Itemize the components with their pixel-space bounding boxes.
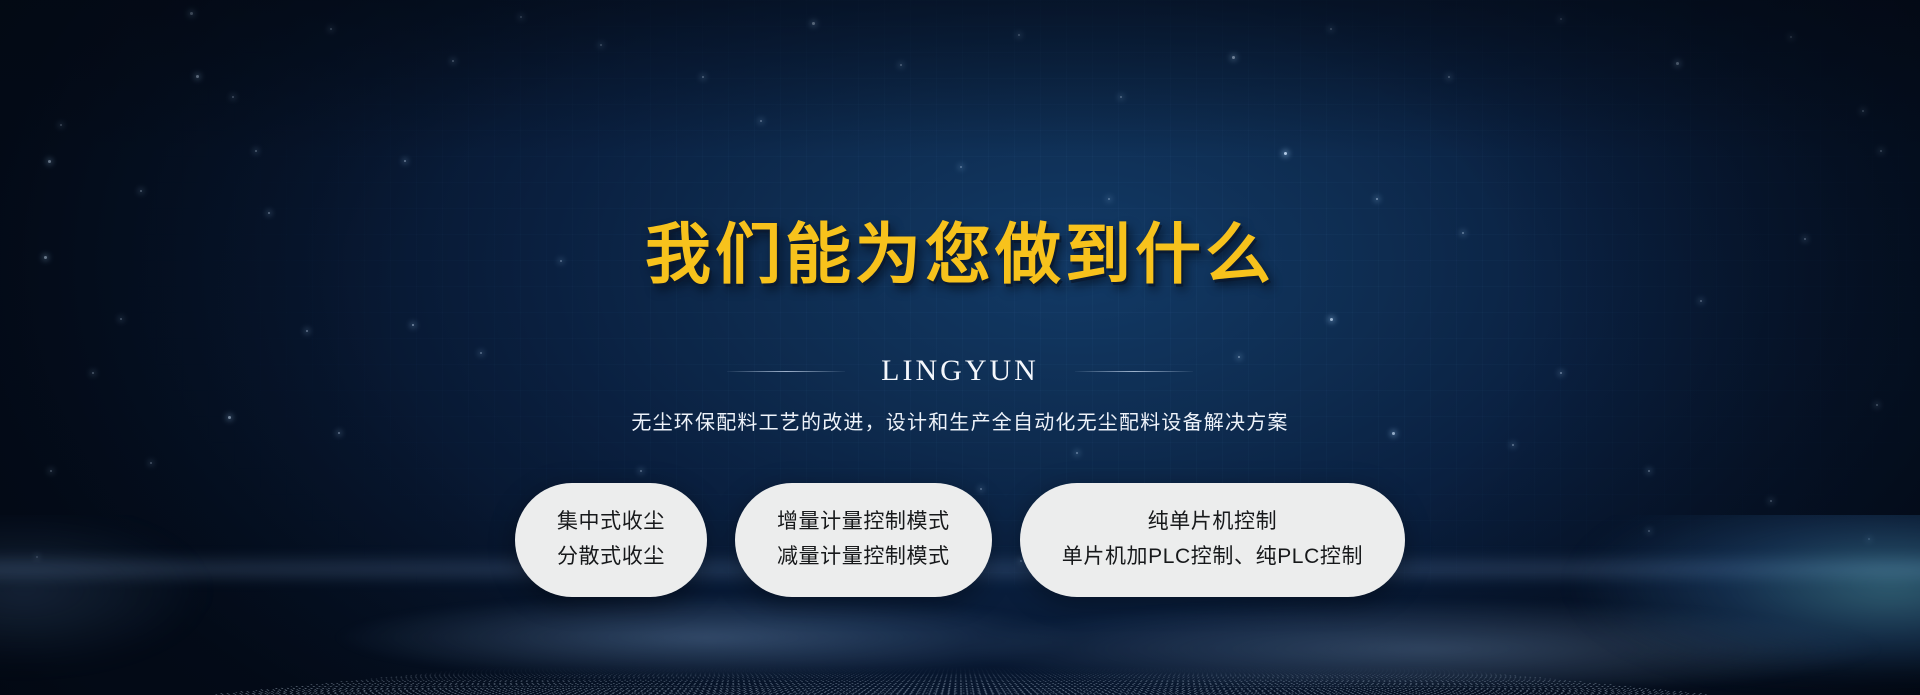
brand-pinyin: LINGYUN [881, 354, 1039, 388]
pill-line-1: 增量计量控制模式 [777, 505, 950, 540]
left-rule-icon [727, 371, 845, 372]
pill-line-1: 纯单片机控制 [1062, 505, 1363, 540]
banner-content: 我们能为您做到什么 LINGYUN 无尘环保配料工艺的改进，设计和生产全自动化无… [0, 0, 1920, 695]
feature-pill-dust-collection[interactable]: 集中式收尘 分散式收尘 [515, 483, 707, 596]
hero-banner: 我们能为您做到什么 LINGYUN 无尘环保配料工艺的改进，设计和生产全自动化无… [0, 0, 1920, 695]
pill-line-1: 集中式收尘 [557, 505, 665, 540]
feature-pill-control-system[interactable]: 纯单片机控制 单片机加PLC控制、纯PLC控制 [1020, 483, 1405, 596]
tagline: 无尘环保配料工艺的改进，设计和生产全自动化无尘配料设备解决方案 [631, 406, 1288, 435]
page-title: 我们能为您做到什么 [645, 222, 1275, 288]
brand-subtitle-row: LINGYUN [727, 354, 1193, 388]
right-rule-icon [1075, 371, 1193, 372]
feature-pill-metering-mode[interactable]: 增量计量控制模式 减量计量控制模式 [735, 483, 992, 596]
pill-line-2: 分散式收尘 [557, 540, 665, 575]
pill-line-2: 减量计量控制模式 [777, 540, 950, 575]
pill-line-2: 单片机加PLC控制、纯PLC控制 [1062, 540, 1363, 575]
feature-pill-group: 集中式收尘 分散式收尘 增量计量控制模式 减量计量控制模式 纯单片机控制 单片机… [515, 483, 1405, 596]
